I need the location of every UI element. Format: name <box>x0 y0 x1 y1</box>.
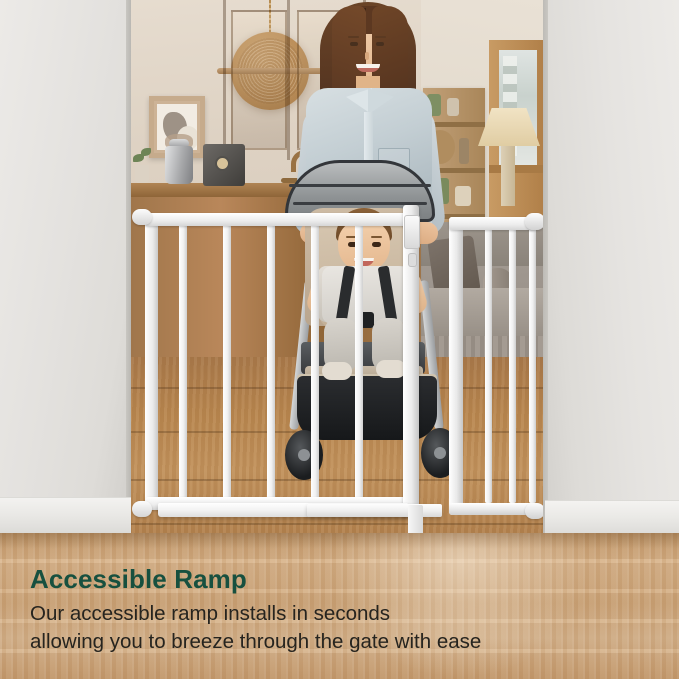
cabinet-seam <box>223 0 226 160</box>
baseboard-left <box>0 497 131 533</box>
shelf-vase <box>447 98 459 116</box>
plant-pot <box>135 165 149 183</box>
eye-right <box>376 42 384 46</box>
teeth <box>356 64 380 68</box>
gate-vertical-bar <box>179 223 187 501</box>
product-lifestyle-photo <box>0 0 679 547</box>
extension-vertical-bar <box>509 227 516 503</box>
extension-vertical-bar <box>529 227 536 503</box>
doorway-edge-left <box>126 0 131 547</box>
caption-body-line-2: allowing you to breeze through the gate … <box>30 628 650 656</box>
gate-latch-button[interactable] <box>408 253 417 267</box>
window-sill <box>489 165 545 173</box>
gate-latch-post[interactable] <box>403 205 419 517</box>
canopy-rib <box>289 184 431 187</box>
baby-safety-gate <box>131 205 545 535</box>
cabinet-door <box>231 10 287 150</box>
eyebrow-left <box>348 36 359 38</box>
gate-post-left <box>145 213 158 510</box>
caption-body: Our accessible ramp installs in seconds … <box>30 600 650 657</box>
eyebrow-right <box>375 36 386 38</box>
screenshot-root: Accessible Ramp Our accessible ramp inst… <box>0 0 679 679</box>
gate-vertical-bar <box>355 223 363 501</box>
gate-vertical-bar <box>223 223 231 501</box>
lamp-base <box>501 146 515 206</box>
foreground-wall-right <box>545 0 679 547</box>
gate-extension-panel <box>449 207 545 525</box>
baseboard-right <box>545 500 679 534</box>
caption-block: Accessible Ramp Our accessible ramp inst… <box>30 565 650 656</box>
foreground-wall-left <box>0 0 131 547</box>
stainless-kettle <box>165 146 193 184</box>
caption-body-line-1: Our accessible ramp installs in seconds <box>30 600 650 628</box>
nose <box>365 52 369 60</box>
eye-left <box>350 42 358 46</box>
shelf-book <box>459 138 469 164</box>
doorway-edge-right <box>543 0 548 547</box>
extension-bottom-rail <box>449 503 535 515</box>
gate-latch[interactable] <box>404 215 420 249</box>
gate-vertical-bar <box>267 223 275 501</box>
gate-vertical-bar <box>311 223 319 501</box>
extension-top-rail <box>449 217 535 230</box>
extension-post-left <box>449 217 463 515</box>
extension-mount-top[interactable] <box>525 213 545 230</box>
pressure-mount-hinge-bottom[interactable] <box>132 501 152 517</box>
pressure-mount-hinge-top[interactable] <box>132 209 152 225</box>
espresso-dial <box>215 156 230 171</box>
extension-vertical-bar <box>485 227 492 503</box>
gate-top-rail <box>145 213 413 226</box>
caption-title: Accessible Ramp <box>30 565 650 594</box>
floor-wall-shadow <box>0 533 679 549</box>
extension-mount-bottom[interactable] <box>525 503 545 519</box>
